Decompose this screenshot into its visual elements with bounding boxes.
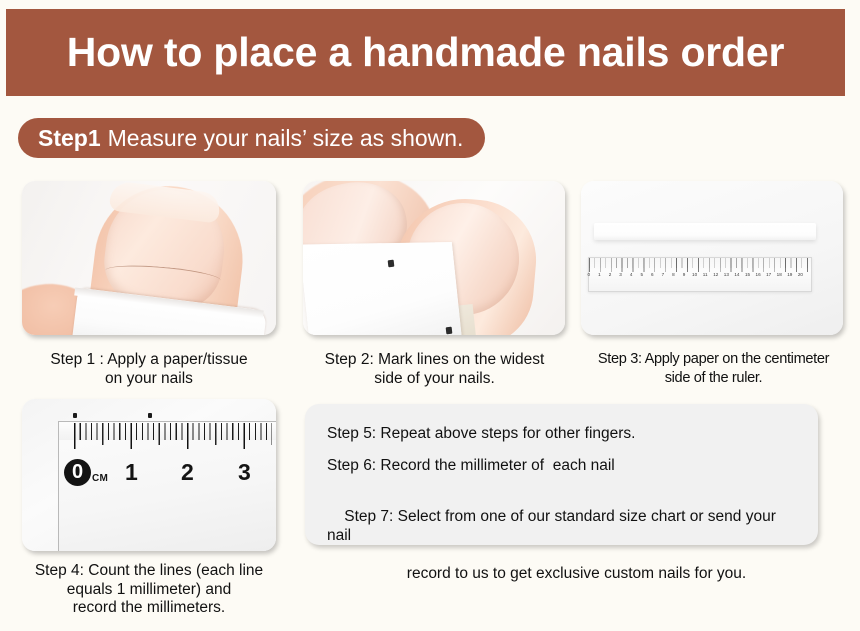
photo-fingertip-with-paper-strip [22, 181, 276, 335]
photo-marked-paper-strip [303, 181, 565, 335]
photo3-paper-strip [594, 223, 816, 240]
step1-label: Step1 [38, 125, 101, 152]
caption-step-1-line-1: Step 1 : Apply a paper/tissue [8, 350, 290, 369]
caption-step-3-line-2: side of the ruler. [575, 369, 852, 388]
photo3-ruler-number: 20 [795, 272, 806, 277]
photo4-mark-2: 2 [181, 459, 194, 486]
photo3-ruler-major-ticks [589, 258, 811, 272]
photo2-mark-top [388, 260, 395, 268]
photo3-ruler-number: 11 [700, 272, 711, 277]
photo3-ruler: 01234567891011121314151617181920 [588, 257, 812, 292]
photo3-ruler-numbers: 01234567891011121314151617181920 [589, 272, 811, 277]
step-6-line: Step 6: Record the millimeter of each na… [327, 456, 796, 475]
photo4-top-mark-right [148, 413, 152, 418]
step-7-line-2: record to us to get exclusive custom nai… [327, 564, 796, 583]
step1-pill: Step1 Measure your nails’ size as shown. [18, 118, 485, 158]
photo3-ruler-number: 15 [742, 272, 753, 277]
step-5-line: Step 5: Repeat above steps for other fin… [327, 424, 796, 443]
step-7-line: Step 7: Select from one of our standard … [327, 488, 796, 621]
steps-text-panel: Step 5: Repeat above steps for other fin… [305, 404, 818, 545]
caption-step-1-line-2: on your nails [8, 369, 290, 388]
caption-step-3: Step 3: Apply paper on the centimeter si… [575, 350, 852, 388]
photo3-ruler-number: 13 [721, 272, 732, 277]
caption-step-4-line-2: equals 1 millimeter) and [8, 581, 290, 600]
photo3-ruler-number: 4 [626, 272, 637, 277]
photo3-ruler-number: 8 [668, 272, 679, 277]
caption-step-4-line-1: Step 4: Count the lines (each line [8, 562, 290, 581]
caption-step-2-line-1: Step 2: Mark lines on the widest [296, 350, 573, 369]
caption-step-3-line-1: Step 3: Apply paper on the centimeter [575, 350, 852, 369]
caption-step-4-line-3: record the millimeters. [8, 599, 290, 618]
caption-step-2: Step 2: Mark lines on the widest side of… [296, 350, 573, 388]
photo-ruler-close-up: 0 CM 1 2 3 [22, 399, 276, 551]
photo3-ruler-number: 14 [732, 272, 743, 277]
photo3-ruler-number: 19 [785, 272, 796, 277]
photo4-mark-3: 3 [238, 459, 251, 486]
step-7-line-1: Step 7: Select from one of our standard … [327, 508, 780, 544]
photo3-ruler-number: 6 [647, 272, 658, 277]
caption-step-4: Step 4: Count the lines (each line equal… [8, 562, 290, 618]
caption-step-2-line-2: side of your nails. [296, 369, 573, 388]
header-banner: How to place a handmade nails order [6, 9, 845, 96]
photo3-ruler-number: 12 [710, 272, 721, 277]
photo3-ruler-number: 5 [636, 272, 647, 277]
photo3-ruler-number: 0 [584, 272, 595, 277]
page-title: How to place a handmade nails order [67, 32, 785, 73]
photo4-zero-badge: 0 [64, 459, 91, 486]
photo3-ruler-number: 18 [774, 272, 785, 277]
photo2-mark-bottom [446, 327, 453, 335]
photo4-centimeter-ticks [74, 423, 272, 449]
photo-paper-strip-on-ruler: 01234567891011121314151617181920 [581, 181, 843, 335]
photo2-paper-strip [303, 242, 463, 335]
photo3-ruler-number: 10 [689, 272, 700, 277]
photo3-ruler-number: 9 [679, 272, 690, 277]
photo3-ruler-number: 16 [753, 272, 764, 277]
photo3-ruler-number: 2 [605, 272, 616, 277]
photo3-ruler-number: 17 [763, 272, 774, 277]
photo3-ruler-number: 7 [658, 272, 669, 277]
caption-step-1: Step 1 : Apply a paper/tissue on your na… [8, 350, 290, 388]
photo3-ruler-number: 1 [594, 272, 605, 277]
photo4-top-mark-left [73, 413, 77, 418]
photo4-mark-1: 1 [125, 459, 138, 486]
step1-description: Measure your nails’ size as shown. [108, 125, 464, 152]
photo4-unit-label: CM [92, 473, 108, 484]
photo3-ruler-number: 3 [615, 272, 626, 277]
